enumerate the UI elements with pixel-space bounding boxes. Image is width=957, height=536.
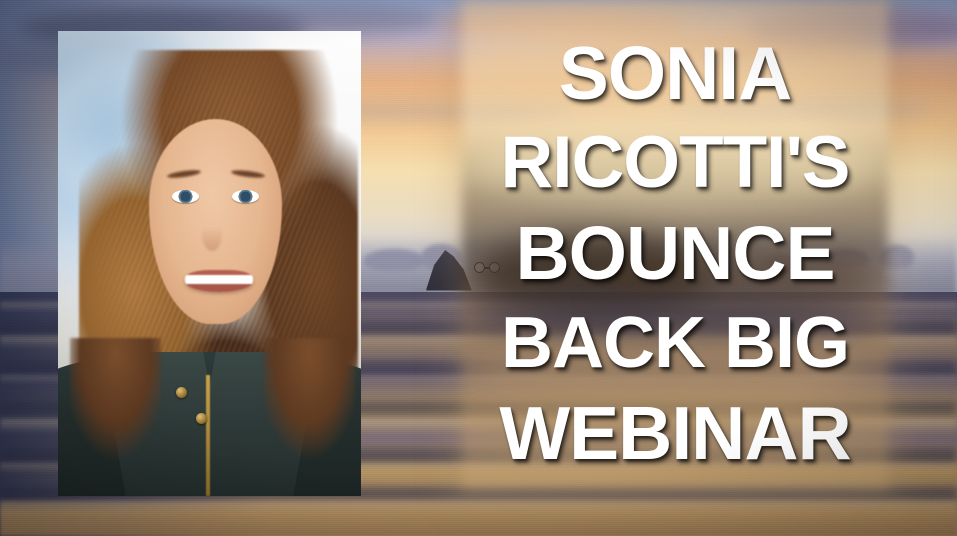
jacket-zipper: [206, 375, 210, 496]
jacket-stud-icon: [196, 413, 207, 424]
portrait-photo: [58, 31, 361, 496]
nose: [202, 217, 222, 251]
eye-left: [172, 190, 199, 203]
page-title: SONIA RICOTTI'S BOUNCE BACK BIG WEBINAR: [462, 28, 888, 478]
hair-front-right: [264, 338, 355, 496]
headline-line-4: BACK BIG: [462, 298, 888, 388]
headline-line-2: RICOTTI'S: [462, 118, 888, 208]
headline-line-1: SONIA: [462, 28, 888, 118]
headline-line-5: WEBINAR: [462, 388, 888, 478]
webinar-title-card: SONIA RICOTTI'S BOUNCE BACK BIG WEBINAR: [0, 0, 957, 536]
hair-front-left: [70, 338, 161, 496]
portrait-frame: [58, 31, 361, 496]
headline-line-3: BOUNCE: [462, 208, 888, 298]
